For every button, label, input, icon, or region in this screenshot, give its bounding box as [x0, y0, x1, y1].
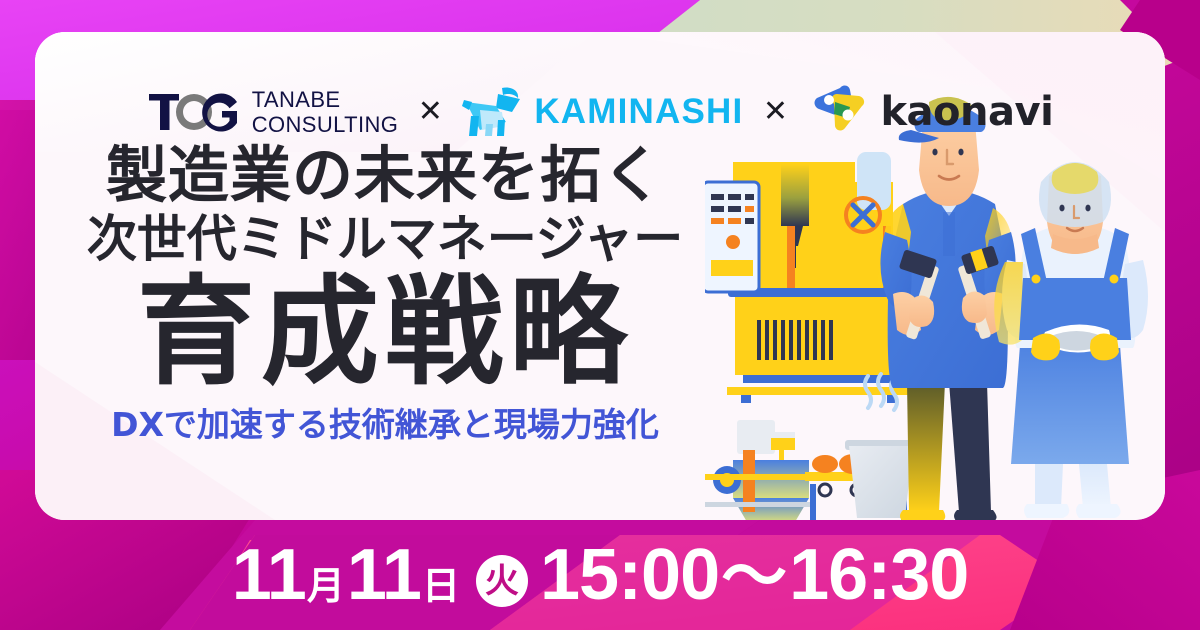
time-range-mark: ～: [721, 543, 787, 609]
kaminashi-wordmark: KAMINASHI: [534, 92, 743, 132]
female-worker-with-hairnet-and-overalls: [994, 162, 1148, 518]
event-day-unit: 日: [422, 568, 460, 606]
logo-separator-2: ✕: [743, 97, 807, 127]
event-start-time: 15:00: [540, 539, 719, 611]
kaonavi-wordmark: kaonavi: [880, 89, 1053, 135]
kaonavi-logo: kaonavi: [807, 84, 1053, 140]
event-date-bar: 11 月 11 日 火 15:00 ～ 16:30: [0, 520, 1200, 630]
headline-main: 育成戦略: [35, 268, 735, 398]
headline-line-2: 次世代ミドルマネージャー: [35, 209, 735, 270]
event-day-number: 11: [347, 539, 421, 611]
kaonavi-triangles-icon: [807, 84, 867, 140]
content-card: TANABE CONSULTING ✕: [35, 32, 1165, 520]
headline-line-1: 製造業の未来を拓く: [35, 144, 735, 209]
partner-logo-row: TANABE CONSULTING ✕: [35, 84, 1165, 140]
tcg-mark-icon: [147, 90, 239, 134]
tcg-logo: TANABE CONSULTING: [147, 89, 399, 136]
goat-icon: [462, 86, 524, 138]
tcg-wordmark: TANABE CONSULTING: [252, 89, 399, 136]
headline-block: 製造業の未来を拓く 次世代ミドルマネージャー 育成戦略 DXで加速する技術継承と…: [35, 144, 735, 445]
event-month-unit: 月: [307, 568, 345, 606]
headline-subtitle: DXで加速する技術継承と現場力強化: [35, 405, 735, 445]
event-end-time: 16:30: [789, 539, 968, 611]
tcg-word-consulting: CONSULTING: [252, 114, 399, 136]
logo-separator-1: ✕: [398, 97, 462, 127]
conveyor-belt-with-products: [705, 374, 927, 520]
event-month-number: 11: [232, 539, 306, 611]
kaminashi-logo: KAMINASHI: [462, 86, 743, 138]
event-datetime: 11 月 11 日 火 15:00 ～ 16:30: [232, 539, 969, 611]
tcg-word-tanabe: TANABE: [252, 89, 399, 111]
day-of-week-badge: 火: [476, 555, 528, 607]
